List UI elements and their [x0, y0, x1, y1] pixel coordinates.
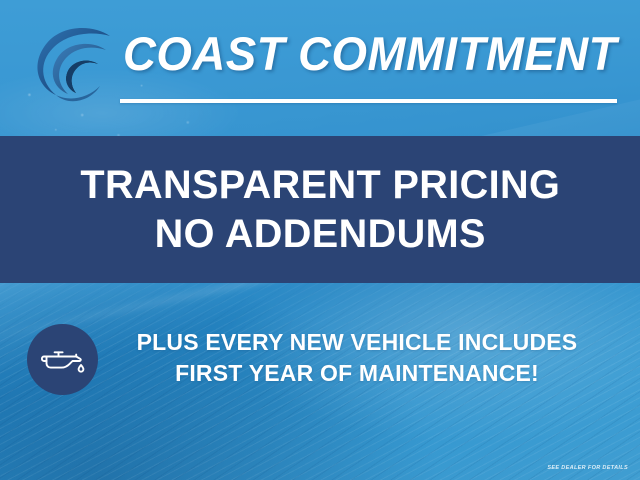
highlight-line-2: NO ADDENDUMS: [154, 211, 485, 257]
promo-section: PLUS EVERY NEW VEHICLE INCLUDES FIRST YE…: [0, 283, 640, 480]
coast-wave-swirl-logo-icon: [22, 16, 118, 108]
highlight-band: TRANSPARENT PRICING NO ADDENDUMS: [0, 136, 640, 283]
promo-line-1: PLUS EVERY NEW VEHICLE INCLUDES: [108, 327, 606, 358]
oil-can-icon: [41, 344, 85, 376]
disclaimer-text: SEE DEALER FOR DETAILS: [547, 465, 628, 471]
promo-text-block: PLUS EVERY NEW VEHICLE INCLUDES FIRST YE…: [108, 327, 606, 388]
oil-can-badge: [27, 324, 98, 395]
page-title: COAST COMMITMENT: [128, 22, 613, 84]
highlight-line-1: TRANSPARENT PRICING: [80, 162, 560, 208]
banner-header: COAST COMMITMENT: [0, 0, 640, 136]
coast-commitment-banner: COAST COMMITMENT TRANSPARENT PRICING NO …: [0, 0, 640, 480]
header-divider: [120, 99, 617, 103]
promo-line-2: FIRST YEAR OF MAINTENANCE!: [108, 358, 606, 389]
